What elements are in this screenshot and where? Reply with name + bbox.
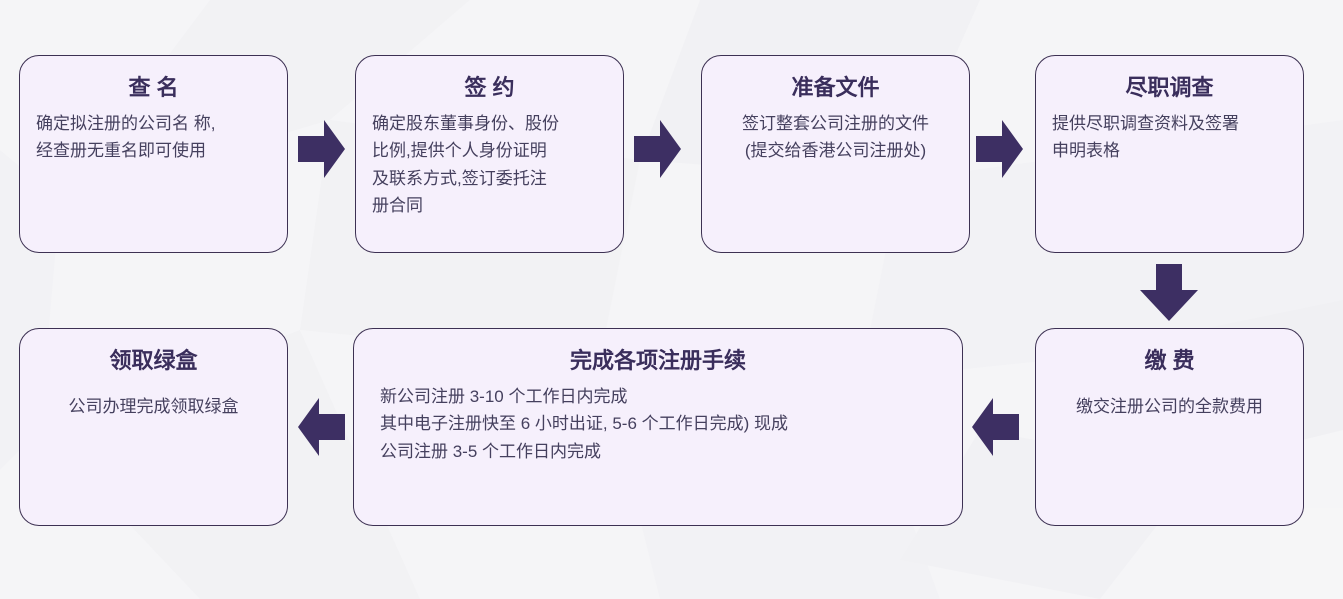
node-body-line: 其中电子注册快至 6 小时出证, 5-6 个工作日完成) 现成 <box>380 410 946 438</box>
node-collect-green-box[interactable]: 领取绿盒 公司办理完成领取绿盒 <box>19 328 288 526</box>
node-body: 确定拟注册的公司名 称, 经查册无重名即可使用 <box>36 110 271 165</box>
node-body-line: 确定股东董事身份、股份 <box>372 110 607 138</box>
node-title: 查 名 <box>36 74 271 102</box>
node-body: 新公司注册 3-10 个工作日内完成 其中电子注册快至 6 小时出证, 5-6 … <box>370 383 946 466</box>
node-body: 缴交注册公司的全款费用 <box>1052 393 1287 421</box>
node-body-line: 及联系方式,签订委托注 <box>372 165 607 193</box>
node-body-line: 比例,提供个人身份证明 <box>372 137 607 165</box>
node-body: 公司办理完成领取绿盒 <box>36 393 271 421</box>
node-title: 领取绿盒 <box>36 347 271 375</box>
node-body-line: (提交给香港公司注册处) <box>718 137 953 165</box>
node-body-line: 提供尽职调查资料及签署 <box>1052 110 1287 138</box>
arrow-prepare-documents-to-due-diligence <box>976 118 1024 180</box>
node-body-line: 新公司注册 3-10 个工作日内完成 <box>380 383 946 411</box>
node-body-line: 缴交注册公司的全款费用 <box>1052 393 1287 421</box>
node-body: 提供尽职调查资料及签署 申明表格 <box>1052 110 1287 165</box>
flowchart: 查 名 确定拟注册的公司名 称, 经查册无重名即可使用 签 约 确定股东董事身份… <box>0 0 1343 599</box>
node-body-line: 册合同 <box>372 192 607 220</box>
node-due-diligence[interactable]: 尽职调查 提供尽职调查资料及签署 申明表格 <box>1035 55 1304 253</box>
node-body: 确定股东董事身份、股份 比例,提供个人身份证明 及联系方式,签订委托注 册合同 <box>372 110 607 220</box>
node-title: 完成各项注册手续 <box>370 347 946 375</box>
node-check-name[interactable]: 查 名 确定拟注册的公司名 称, 经查册无重名即可使用 <box>19 55 288 253</box>
node-body-line: 公司办理完成领取绿盒 <box>36 393 271 421</box>
node-title: 缴 费 <box>1052 347 1287 375</box>
node-complete-registration[interactable]: 完成各项注册手续 新公司注册 3-10 个工作日内完成 其中电子注册快至 6 小… <box>353 328 963 526</box>
node-payment[interactable]: 缴 费 缴交注册公司的全款费用 <box>1035 328 1304 526</box>
node-title: 尽职调查 <box>1052 74 1287 102</box>
node-body-line: 申明表格 <box>1052 137 1287 165</box>
node-body-line: 经查册无重名即可使用 <box>36 137 271 165</box>
arrow-check-name-to-sign-contract <box>298 118 346 180</box>
arrow-complete-registration-to-collect-green-box <box>298 396 346 458</box>
arrow-due-diligence-to-payment <box>1138 264 1200 322</box>
arrow-sign-contract-to-prepare-documents <box>634 118 682 180</box>
node-sign-contract[interactable]: 签 约 确定股东董事身份、股份 比例,提供个人身份证明 及联系方式,签订委托注 … <box>355 55 624 253</box>
node-body-line: 确定拟注册的公司名 称, <box>36 110 271 138</box>
node-title: 准备文件 <box>718 74 953 102</box>
node-title: 签 约 <box>372 74 607 102</box>
node-body-line: 公司注册 3-5 个工作日内完成 <box>380 438 946 466</box>
node-prepare-documents[interactable]: 准备文件 签订整套公司注册的文件 (提交给香港公司注册处) <box>701 55 970 253</box>
node-body-line: 签订整套公司注册的文件 <box>718 110 953 138</box>
node-body: 签订整套公司注册的文件 (提交给香港公司注册处) <box>718 110 953 165</box>
arrow-payment-to-complete-registration <box>972 396 1020 458</box>
